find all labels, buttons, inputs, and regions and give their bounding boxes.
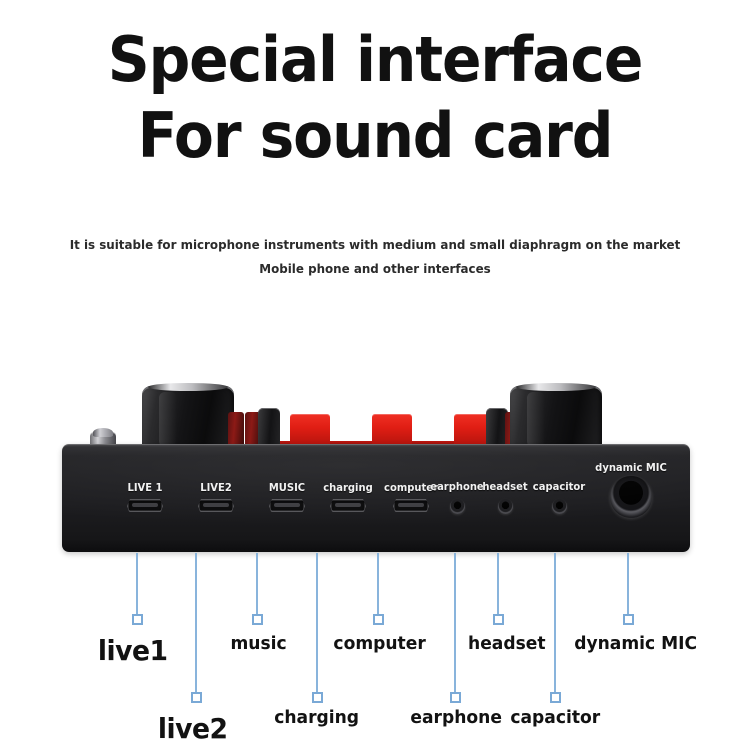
small-knob-left xyxy=(258,408,280,448)
port-live-1[interactable]: LIVE 1 xyxy=(110,482,180,512)
red-button-2[interactable] xyxy=(372,414,412,444)
port-charging[interactable]: charging xyxy=(313,482,383,512)
callout-line-music xyxy=(256,553,258,614)
device-internals-top xyxy=(62,378,690,448)
volume-knob-right xyxy=(510,386,602,448)
callout-label-capacitor: capacitor xyxy=(510,707,600,728)
callout-line-headset xyxy=(497,553,499,614)
callout-line-live1 xyxy=(136,553,138,614)
jack-icon-dynamic-mic[interactable] xyxy=(610,476,652,518)
callout-node-earphone xyxy=(450,692,461,703)
jack-icon-capacitor[interactable] xyxy=(552,499,567,514)
callout-line-earphone xyxy=(454,553,456,692)
sound-card-device-photo: LIVE 1 LIVE2 MUSIC charging computer ear… xyxy=(0,360,750,560)
callout-line-dynamic-mic xyxy=(627,553,629,614)
headline-line-2: For sound card xyxy=(23,98,728,174)
jack-icon-earphone[interactable] xyxy=(450,499,465,514)
callout-line-live2 xyxy=(195,553,197,692)
post-red-left-a xyxy=(228,412,244,448)
callout-node-capacitor xyxy=(550,692,561,703)
callout-line-charging xyxy=(316,553,318,692)
micro-usb-icon-music[interactable] xyxy=(269,499,305,512)
callout-label-dynamic-mic: dynamic MIC xyxy=(574,633,697,654)
callout-label-music: music xyxy=(230,633,286,654)
device-faceplate: LIVE 1 LIVE2 MUSIC charging computer ear… xyxy=(62,444,690,552)
callout-line-capacitor xyxy=(554,553,556,692)
subtitle-block: It is suitable for microphone instrument… xyxy=(0,233,750,281)
callout-node-headset xyxy=(493,614,504,625)
port-live-2[interactable]: LIVE2 xyxy=(181,482,251,512)
callout-node-computer xyxy=(373,614,384,625)
port-label-dynamic-mic: dynamic MIC xyxy=(584,462,679,474)
port-label-music: MUSIC xyxy=(254,482,321,494)
port-label-live-1: LIVE 1 xyxy=(112,482,179,494)
callout-label-earphone: earphone xyxy=(410,707,502,728)
port-label-charging: charging xyxy=(315,482,382,494)
callout-node-charging xyxy=(312,692,323,703)
callout-node-live2 xyxy=(191,692,202,703)
callout-label-live1: live1 xyxy=(98,634,168,667)
port-label-live-2: LIVE2 xyxy=(183,482,250,494)
callout-node-live1 xyxy=(132,614,143,625)
callout-label-computer: computer xyxy=(333,633,425,654)
callout-node-dynamic-mic xyxy=(623,614,634,625)
callout-label-charging: charging xyxy=(274,707,359,728)
headline-block: Special interface For sound card xyxy=(0,22,750,174)
callout-label-headset: headset xyxy=(468,633,546,654)
volume-knob-left xyxy=(142,386,234,448)
port-music[interactable]: MUSIC xyxy=(252,482,322,512)
micro-usb-icon-charging[interactable] xyxy=(330,499,366,512)
red-button-1[interactable] xyxy=(290,414,330,444)
micro-usb-icon-live-2[interactable] xyxy=(198,499,234,512)
callout-label-live2: live2 xyxy=(158,712,228,745)
callout-line-computer xyxy=(377,553,379,614)
headline-line-1: Special interface xyxy=(23,22,728,98)
jack-icon-headset[interactable] xyxy=(498,499,513,514)
subtitle-line-2: Mobile phone and other interfaces xyxy=(19,257,732,281)
micro-usb-icon-live-1[interactable] xyxy=(127,499,163,512)
port-dynamic-mic[interactable]: dynamic MIC xyxy=(581,462,681,518)
subtitle-line-1: It is suitable for microphone instrument… xyxy=(19,233,732,257)
callout-node-music xyxy=(252,614,263,625)
